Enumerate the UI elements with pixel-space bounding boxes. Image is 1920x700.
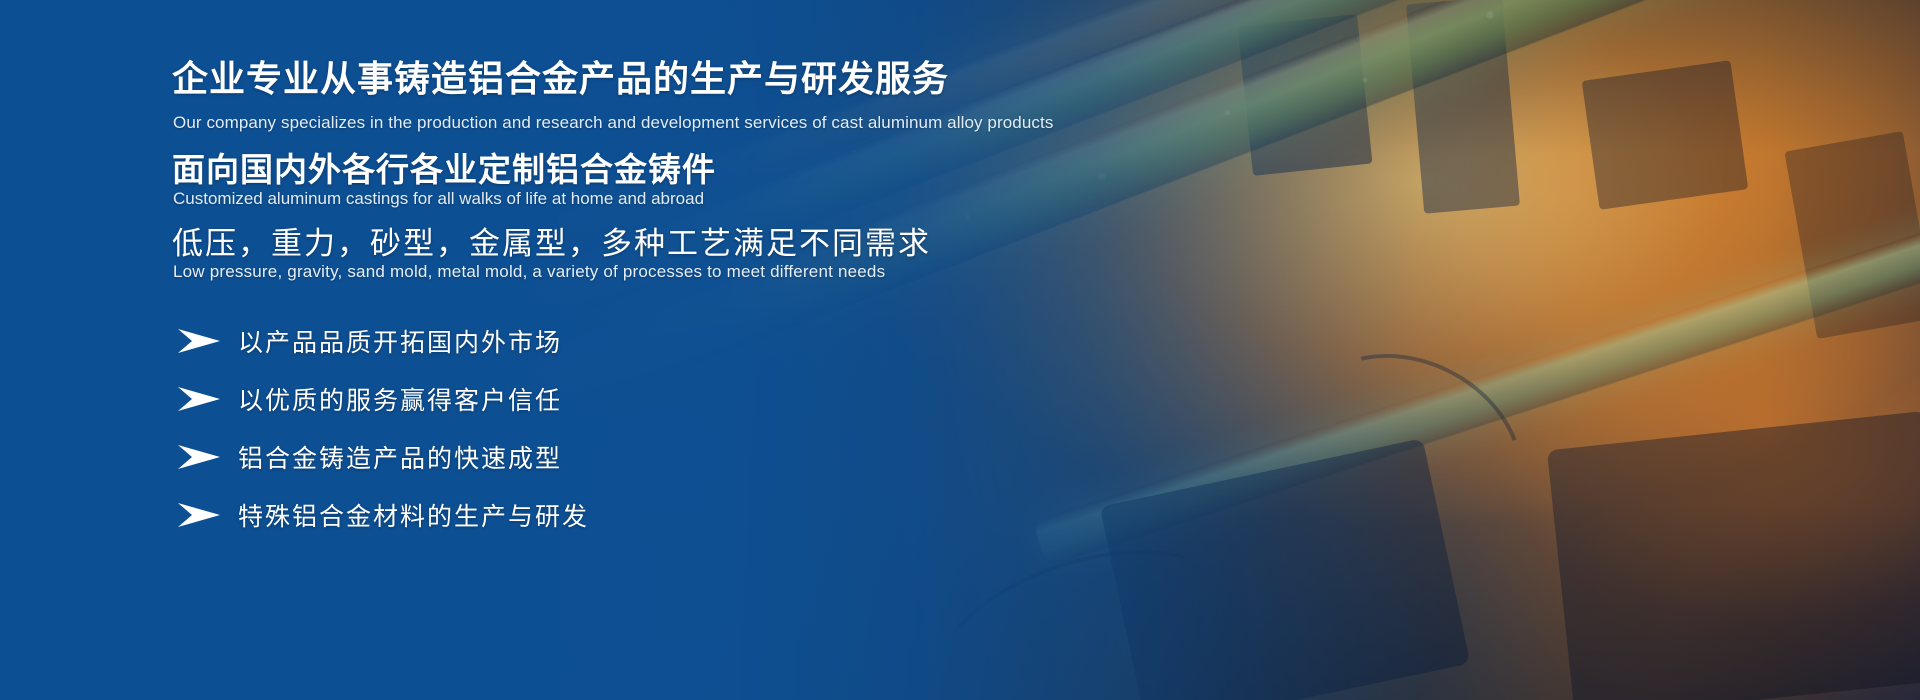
list-item-label: 铝合金铸造产品的快速成型 — [238, 439, 562, 475]
arrow-right-icon — [176, 502, 222, 528]
headline-primary-cn: 企业专业从事铸造铝合金产品的生产与研发服务 — [172, 50, 949, 102]
feature-list: 以产品品质开拓国内外市场 以优质的服务赢得客户信任 铝合金铸造产品的快速成型 特… — [176, 316, 589, 548]
list-item-label: 以优质的服务赢得客户信任 — [238, 381, 562, 417]
list-item: 以产品品质开拓国内外市场 — [176, 316, 589, 366]
headline-tertiary-en: Low pressure, gravity, sand mold, metal … — [173, 262, 885, 282]
headline-secondary-cn: 面向国内外各行各业定制铝合金铸件 — [172, 143, 716, 191]
headline-tertiary-cn: 低压，重力，砂型，金属型，多种工艺满足不同需求 — [172, 218, 931, 263]
arrow-right-icon — [176, 328, 222, 354]
list-item-label: 特殊铝合金材料的生产与研发 — [238, 497, 589, 533]
banner-content: 企业专业从事铸造铝合金产品的生产与研发服务 Our company specia… — [172, 0, 1372, 700]
list-item: 特殊铝合金材料的生产与研发 — [176, 490, 589, 540]
hero-banner: 企业专业从事铸造铝合金产品的生产与研发服务 Our company specia… — [0, 0, 1920, 700]
arrow-right-icon — [176, 386, 222, 412]
list-item-label: 以产品品质开拓国内外市场 — [238, 323, 562, 359]
list-item: 铝合金铸造产品的快速成型 — [176, 432, 589, 482]
arrow-right-icon — [176, 444, 222, 470]
blue-left-band — [0, 0, 140, 700]
headline-secondary-en: Customized aluminum castings for all wal… — [173, 189, 704, 209]
list-item: 以优质的服务赢得客户信任 — [176, 374, 589, 424]
headline-primary-en: Our company specializes in the productio… — [173, 113, 1053, 133]
